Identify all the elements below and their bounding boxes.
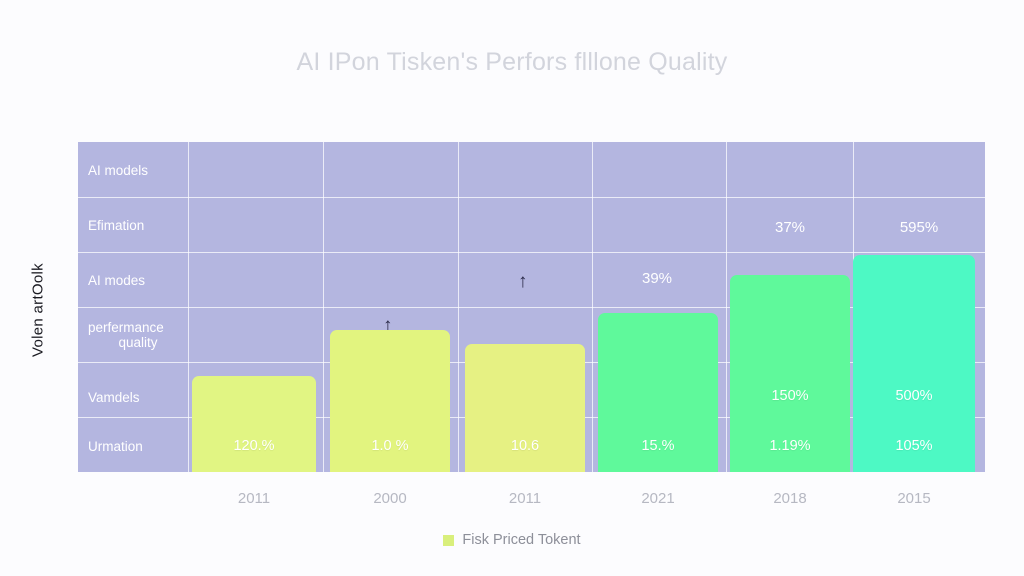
- bar-label-inner-3: 15.%: [598, 438, 718, 454]
- bar-2[interactable]: 10.6: [465, 344, 585, 472]
- gridline-vertical: [458, 142, 459, 472]
- x-tick-2: 2011: [465, 490, 585, 507]
- row-label-5: Urmation: [88, 439, 188, 454]
- bar-label-inner-top-5: 500%: [853, 388, 975, 404]
- x-tick-1: 2000: [330, 490, 450, 507]
- gridline-vertical: [726, 142, 727, 472]
- gridline-vertical: [323, 142, 324, 472]
- bar-4[interactable]: 150% 1.19%: [730, 275, 850, 472]
- legend-label: Fisk Priced Tokent: [462, 532, 580, 548]
- row-label-4: Vamdels: [88, 390, 188, 405]
- row-label-1: Efimation: [88, 218, 188, 233]
- annotation-value-label: 39%: [597, 270, 717, 287]
- bar-5[interactable]: 500% 105%: [853, 255, 975, 472]
- x-tick-4: 2018: [730, 490, 850, 507]
- row-label-text: Urmation: [88, 439, 143, 454]
- bar-label-inner-top-4: 150%: [730, 388, 850, 404]
- y-axis-label-container: Volen artOolk: [18, 220, 58, 400]
- bar-label-inner-5: 105%: [853, 438, 975, 454]
- gridline-horizontal: [78, 252, 985, 253]
- bar-label-inner-0: 120.%: [192, 438, 316, 454]
- x-tick-3: 2021: [598, 490, 718, 507]
- bar-label-inner-1: 1.0 %: [330, 438, 450, 454]
- legend-swatch-icon: [443, 535, 454, 546]
- gridline-vertical: [592, 142, 593, 472]
- row-label-text-line2: quality: [88, 335, 188, 350]
- x-tick-0: 2011: [192, 490, 316, 507]
- page-title: AI IPon Tisken's Perfors flllone Quality: [0, 48, 1024, 77]
- x-tick-5: 2015: [853, 490, 975, 507]
- bar-1[interactable]: 1.0 %: [330, 330, 450, 472]
- bar-3[interactable]: 15.%: [598, 313, 718, 472]
- row-label-text: perfermance: [88, 320, 164, 335]
- row-label-text: Vamdels: [88, 390, 140, 405]
- bar-value-above-4: 37%: [730, 219, 850, 236]
- row-label-text: Efimation: [88, 218, 144, 233]
- row-label-3: perfermance quality: [88, 320, 188, 350]
- row-label-text: AI models: [88, 163, 148, 178]
- legend: Fisk Priced Tokent: [0, 532, 1024, 548]
- gridline-horizontal: [78, 197, 985, 198]
- y-axis-label: Volen artOolk: [30, 263, 47, 357]
- bar-label-inner-4: 1.19%: [730, 438, 850, 454]
- row-label-0: AI models: [88, 163, 188, 178]
- row-label-text: AI modes: [88, 273, 145, 288]
- bar-label-inner-2: 10.6: [465, 438, 585, 454]
- gridline-vertical: [188, 142, 189, 472]
- bar-0[interactable]: 120.%: [192, 376, 316, 472]
- up-arrow-icon: ↑: [518, 272, 528, 291]
- row-label-2: AI modes: [88, 273, 188, 288]
- plot-area: AI models Efimation AI modes perfermance…: [78, 142, 985, 472]
- bar-value-above-5: 595%: [858, 219, 980, 236]
